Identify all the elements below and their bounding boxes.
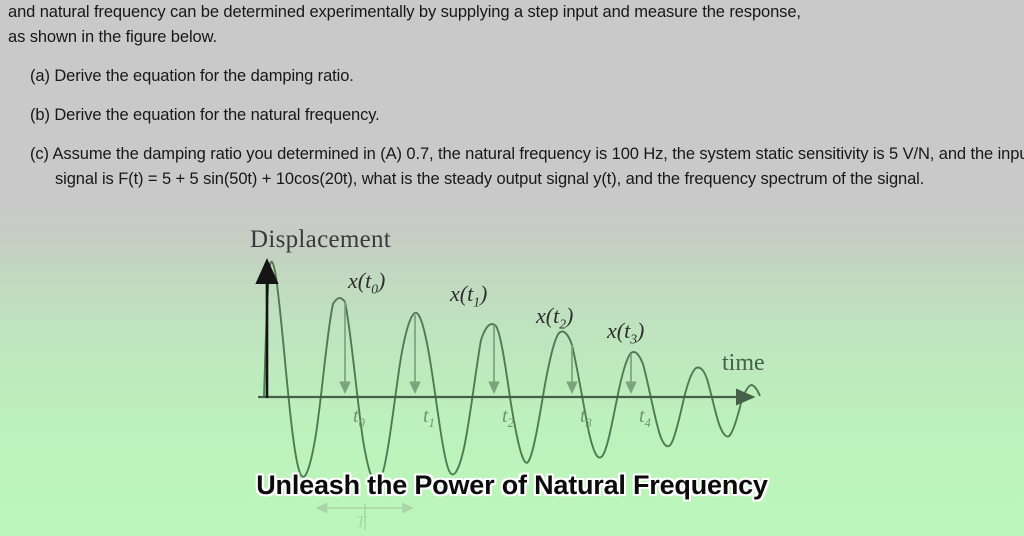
peak-label-x-t1: x(t1) <box>450 281 487 310</box>
time-tick-t2-sub: 2 <box>508 416 514 430</box>
peak-label-x-t1-prefix: x(t <box>450 281 473 306</box>
peak-label-x-t2: x(t2) <box>536 303 573 332</box>
time-tick-t3-sub: 3 <box>586 416 592 430</box>
peak-label-x-t1-sub: 1 <box>473 294 480 309</box>
peak-label-x-t3-prefix: x(t <box>607 318 630 343</box>
peak-label-x-t3: x(t3) <box>607 318 644 347</box>
time-tick-t1: t1 <box>423 405 435 431</box>
y-axis-label: Displacement <box>250 226 391 254</box>
period-label: T <box>356 512 365 532</box>
peak-label-x-t3-sub: 3 <box>630 331 637 346</box>
peak-label-x-t2-suffix: ) <box>566 303 573 328</box>
peak-drop-arrows <box>345 302 631 392</box>
screenshot-root: and natural frequency can be determined … <box>0 0 1024 536</box>
peak-label-x-t0-sub: 0 <box>371 281 378 296</box>
x-axis-label: time <box>722 350 765 377</box>
peak-label-x-t1-suffix: ) <box>480 281 487 306</box>
time-tick-t1-sub: 1 <box>429 416 435 430</box>
peak-label-x-t0-prefix: x(t <box>348 268 371 293</box>
peak-label-x-t0: x(t0) <box>348 268 385 297</box>
peak-label-x-t2-prefix: x(t <box>536 303 559 328</box>
time-tick-t0: t0 <box>353 405 365 431</box>
time-tick-t4-sub: 4 <box>645 416 651 430</box>
peak-label-x-t0-suffix: ) <box>378 268 385 293</box>
time-tick-t4: t4 <box>639 405 651 431</box>
time-tick-t3: t3 <box>580 405 592 431</box>
peak-label-x-t3-suffix: ) <box>637 318 644 343</box>
peak-label-x-t2-sub: 2 <box>559 316 566 331</box>
damped-oscillation-figure: Displacement time x(t0) x(t1) x(t2) x(t3… <box>0 0 1024 536</box>
damped-waveform <box>264 262 760 483</box>
time-tick-t2: t2 <box>502 405 514 431</box>
figure-svg <box>0 0 1024 536</box>
time-tick-t0-sub: 0 <box>359 416 365 430</box>
caption-banner: Unleash the Power of Natural Frequency <box>0 470 1024 501</box>
